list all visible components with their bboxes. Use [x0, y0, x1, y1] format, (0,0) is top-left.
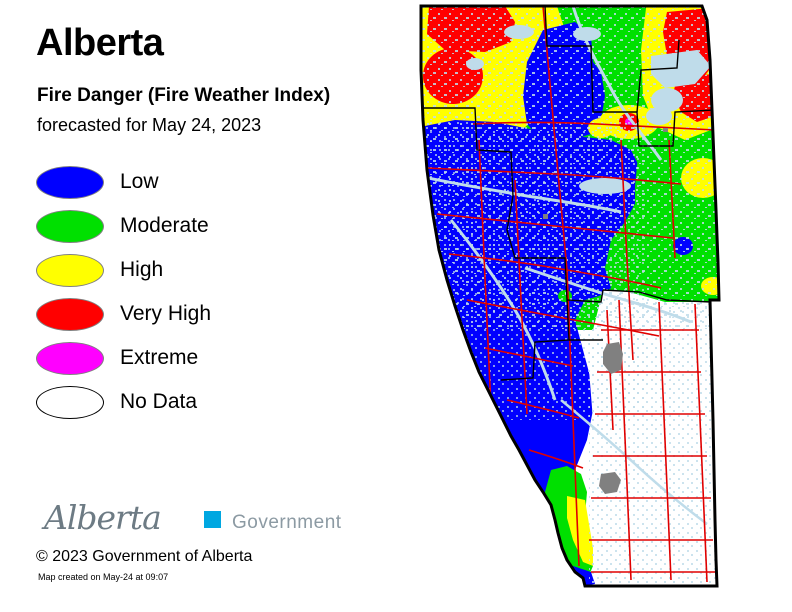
- copyright-notice: © 2023 Government of Alberta: [36, 548, 252, 566]
- alberta-government-logo: Alberta Government: [36, 500, 366, 538]
- alberta-wordmark: Alberta: [44, 498, 161, 537]
- urban-grande-prairie: [543, 214, 548, 219]
- urban-fort-mcmurray: [663, 128, 668, 132]
- alberta-fire-danger-map: [415, 0, 792, 612]
- legend-label-moderate: Moderate: [120, 214, 209, 238]
- legend: Low Moderate High Very High Extreme No D: [36, 160, 211, 424]
- legend-item-no-data: No Data: [36, 380, 211, 424]
- legend-swatch-moderate: [36, 210, 104, 243]
- legend-item-extreme: Extreme: [36, 336, 211, 380]
- legend-item-moderate: Moderate: [36, 204, 211, 248]
- region-south-moderate-dot: [495, 462, 507, 470]
- logo-square-accent: [204, 511, 221, 528]
- legend-swatch-no-data: [36, 386, 104, 419]
- legend-item-high: High: [36, 248, 211, 292]
- northern-lake-2: [646, 107, 672, 125]
- legend-label-very-high: Very High: [120, 302, 211, 326]
- legend-item-low: Low: [36, 160, 211, 204]
- legend-label-low: Low: [120, 170, 159, 194]
- map-subtitle: Fire Danger (Fire Weather Index): [37, 85, 330, 107]
- map-created-timestamp: Map created on May-24 at 09:07: [38, 572, 168, 582]
- footer: Alberta Government © 2023 Government of …: [36, 500, 366, 538]
- region-south-moderate-dot-2: [510, 464, 520, 472]
- northwest-lake: [504, 25, 534, 39]
- legend-label-extreme: Extreme: [120, 346, 198, 370]
- north-lake-3: [573, 27, 601, 41]
- government-wordmark: Government: [232, 512, 342, 534]
- forecast-date: forecasted for May 24, 2023: [37, 115, 261, 136]
- fire-danger-map-page: Alberta Fire Danger (Fire Weather Index)…: [0, 0, 792, 612]
- legend-item-very-high: Very High: [36, 292, 211, 336]
- legend-swatch-low: [36, 166, 104, 199]
- legend-label-high: High: [120, 258, 163, 282]
- northwest-lake-2: [466, 58, 484, 70]
- info-panel: Alberta Fire Danger (Fire Weather Index)…: [0, 0, 415, 612]
- legend-swatch-very-high: [36, 298, 104, 331]
- legend-swatch-high: [36, 254, 104, 287]
- legend-label-no-data: No Data: [120, 390, 197, 414]
- fire-danger-surface: [415, 0, 792, 586]
- page-title: Alberta: [36, 24, 163, 62]
- legend-swatch-extreme: [36, 342, 104, 375]
- map-container: [415, 0, 792, 612]
